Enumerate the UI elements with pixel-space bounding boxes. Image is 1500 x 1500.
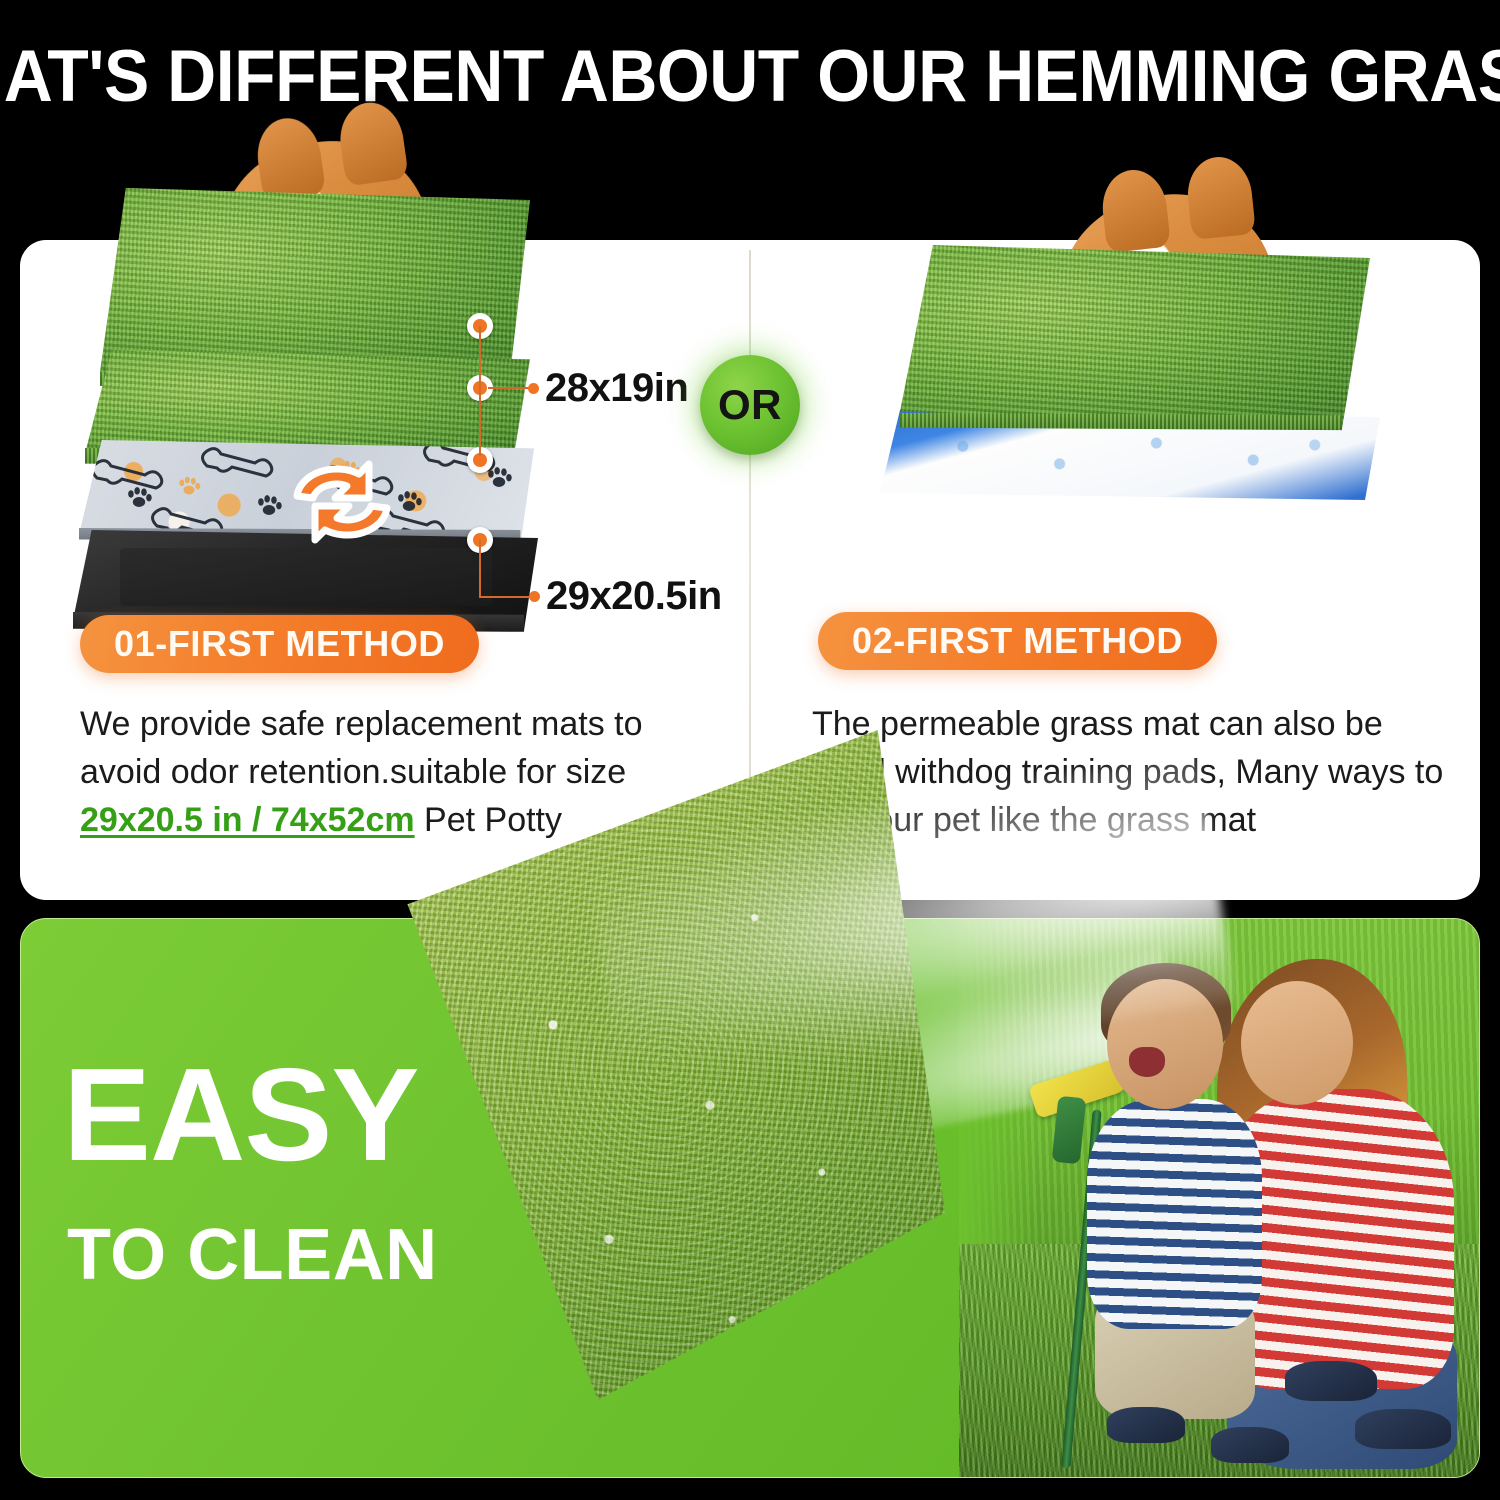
grass-mat-with-training-pad — [865, 205, 1425, 505]
page-title: WHAT'S DIFFERENT ABOUT OUR HEMMING GRASS… — [53, 28, 1448, 124]
family-hose-photo — [959, 919, 1479, 1478]
woman-shoe — [1285, 1361, 1377, 1401]
corgi-ear-icon — [253, 114, 327, 202]
callout-label-grass-size: 28x19in — [545, 366, 688, 411]
boy-sandal — [1211, 1427, 1289, 1463]
method-02-description: The permeable grass mat can also be used… — [812, 700, 1452, 844]
grass-mat-top — [900, 245, 1370, 430]
method-01-description: We provide safe replacement mats to avoi… — [80, 700, 680, 844]
method-pill-02: 02-FIRST METHOD — [818, 612, 1217, 670]
woman-shoe — [1355, 1409, 1451, 1449]
callout-label-tray-size: 29x20.5in — [546, 574, 722, 619]
callout-tip-icon — [528, 383, 539, 394]
corgi-ear-icon — [1099, 167, 1172, 253]
callout-line-vertical — [479, 540, 481, 597]
boy-sandal — [1107, 1407, 1185, 1443]
callout-line-horizontal — [479, 596, 531, 598]
callout-line-horizontal — [488, 387, 530, 389]
boy-head — [1107, 979, 1223, 1109]
woman-head — [1241, 981, 1353, 1105]
method-01-text-after: Pet Potty — [415, 801, 562, 839]
easy-headline: EASY — [63, 1049, 418, 1181]
method-pill-01: 01-FIRST METHOD — [80, 615, 479, 673]
or-badge: OR — [700, 355, 800, 455]
boy-mouth — [1129, 1047, 1165, 1077]
training-pad-pattern — [910, 421, 1350, 484]
hose-nozzle-grip — [1052, 1096, 1087, 1165]
method-01-size-highlight: 29x20.5 in / 74x52cm — [80, 801, 415, 839]
boy-shirt — [1087, 1099, 1262, 1329]
callout-tip-icon — [529, 591, 540, 602]
callout-line-vertical — [479, 326, 481, 456]
corgi-ear-icon — [1184, 154, 1257, 240]
method-01-text-before: We provide safe replacement mats to avoi… — [80, 705, 643, 791]
to-clean-subhead: TO CLEAN — [67, 1219, 438, 1291]
infographic-stage: WHAT'S DIFFERENT ABOUT OUR HEMMING GRASS… — [0, 0, 1500, 1500]
swap-replace-icon — [277, 446, 407, 558]
